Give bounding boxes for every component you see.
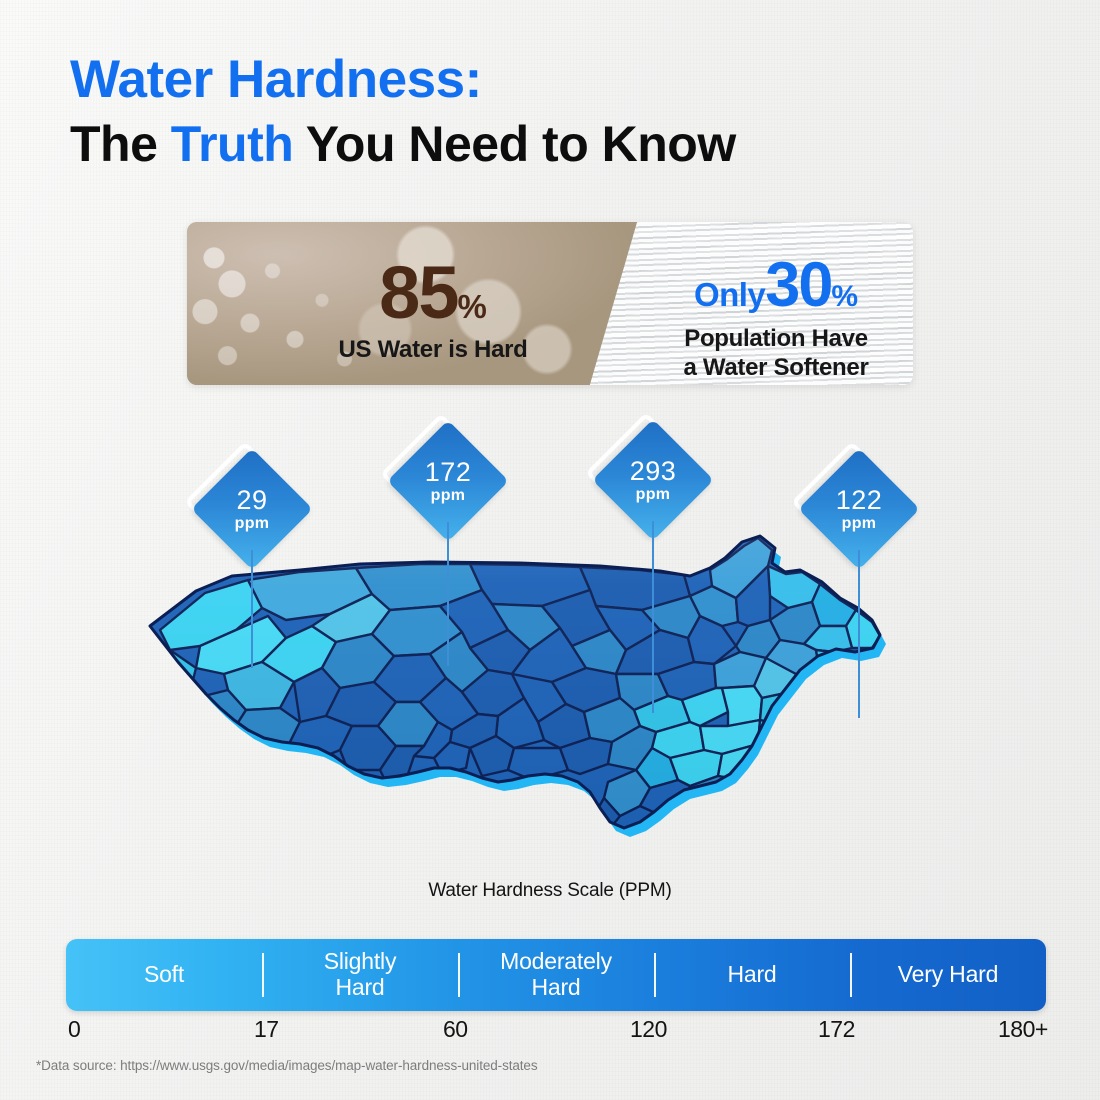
water-hardness-scale-bar: SoftSlightlyHardModeratelyHardHardVery H… — [66, 939, 1046, 1011]
scale-tick-0: 0 — [68, 1016, 80, 1043]
marker-diamond[interactable]: 29ppm — [209, 466, 295, 552]
marker-label: 293ppm — [610, 437, 696, 523]
data-source-footnote: *Data source: https://www.usgs.gov/media… — [36, 1058, 537, 1073]
stat-30-prefix: Only — [694, 276, 765, 313]
scale-tick-17: 17 — [254, 1016, 279, 1043]
marker-stem-line — [652, 521, 654, 713]
scale-segment-hard[interactable]: Hard — [654, 939, 850, 1011]
marker-diamond[interactable]: 293ppm — [610, 437, 696, 523]
scale-segment-label: Soft — [144, 962, 184, 988]
scale-segment-label: Hard — [727, 962, 776, 988]
scale-segment-soft[interactable]: Soft — [66, 939, 262, 1011]
title-line-2: The Truth You Need to Know — [70, 116, 736, 174]
marker-stem-line — [858, 550, 860, 718]
marker-unit: ppm — [842, 516, 877, 532]
marker-stem-line — [251, 550, 253, 668]
stat-85-caption: US Water is Hard — [283, 336, 583, 364]
marker-diamond[interactable]: 172ppm — [405, 438, 491, 524]
map-marker-29ppm[interactable]: 29ppm — [209, 466, 295, 552]
scale-tick-labels: 01760120172180+ — [0, 1016, 1100, 1048]
scale-tick-172: 172 — [818, 1016, 855, 1043]
map-body — [0, 430, 1100, 870]
scale-segment-very-hard[interactable]: Very Hard — [850, 939, 1046, 1011]
scale-segment-slightly[interactable]: SlightlyHard — [262, 939, 458, 1011]
title-line-2-prefix: The — [70, 116, 171, 172]
stat-85-value: 85% — [283, 258, 583, 328]
stat-30-caption: Population Have a Water Softener — [647, 324, 905, 383]
stat-us-water-is-hard: 85% US Water is Hard — [283, 258, 583, 364]
stat-30-percent: % — [831, 280, 858, 313]
scale-segment-moderately[interactable]: ModeratelyHard — [458, 939, 654, 1011]
marker-value: 29 — [236, 487, 267, 514]
marker-value: 122 — [836, 487, 883, 514]
marker-unit: ppm — [431, 488, 466, 504]
marker-diamond[interactable]: 122ppm — [816, 466, 902, 552]
marker-label: 122ppm — [816, 466, 902, 552]
map-marker-122ppm[interactable]: 122ppm — [816, 466, 902, 552]
scale-tick-120: 120 — [630, 1016, 667, 1043]
marker-label: 29ppm — [209, 466, 295, 552]
scale-segment-label: SlightlyHard — [324, 949, 397, 1001]
title-line-2-suffix: You Need to Know — [293, 116, 735, 172]
title-highlight-truth: Truth — [171, 116, 293, 172]
title-line-1: Water Hardness: — [70, 52, 736, 108]
scale-caption: Water Hardness Scale (PPM) — [0, 880, 1100, 902]
marker-value: 293 — [630, 458, 677, 485]
marker-label: 172ppm — [405, 438, 491, 524]
marker-unit: ppm — [235, 516, 270, 532]
us-water-hardness-map — [0, 430, 1100, 870]
marker-unit: ppm — [636, 487, 671, 503]
stat-85-percent: % — [457, 288, 486, 325]
stat-30-number: 30 — [765, 250, 831, 320]
stat-30-caption-line-2: a Water Softener — [647, 353, 905, 382]
map-marker-293ppm[interactable]: 293ppm — [610, 437, 696, 523]
page-title: Water Hardness: The Truth You Need to Kn… — [70, 52, 736, 173]
map-marker-172ppm[interactable]: 172ppm — [405, 438, 491, 524]
stat-30-value: Only30% — [647, 254, 905, 317]
stat-85-number: 85 — [379, 251, 457, 334]
us-map-svg — [0, 430, 1100, 870]
scale-segment-label: Very Hard — [898, 962, 998, 988]
scale-tick-60: 60 — [443, 1016, 468, 1043]
stat-water-softener: Only30% Population Have a Water Softener — [647, 254, 905, 383]
marker-stem-line — [447, 522, 449, 666]
statistics-banner: 85% US Water is Hard Only30% Population … — [187, 222, 913, 385]
scale-tick-180plus: 180+ — [998, 1016, 1048, 1043]
stat-30-caption-line-1: Population Have — [647, 324, 905, 353]
scale-segment-label: ModeratelyHard — [500, 949, 612, 1001]
marker-value: 172 — [425, 459, 472, 486]
